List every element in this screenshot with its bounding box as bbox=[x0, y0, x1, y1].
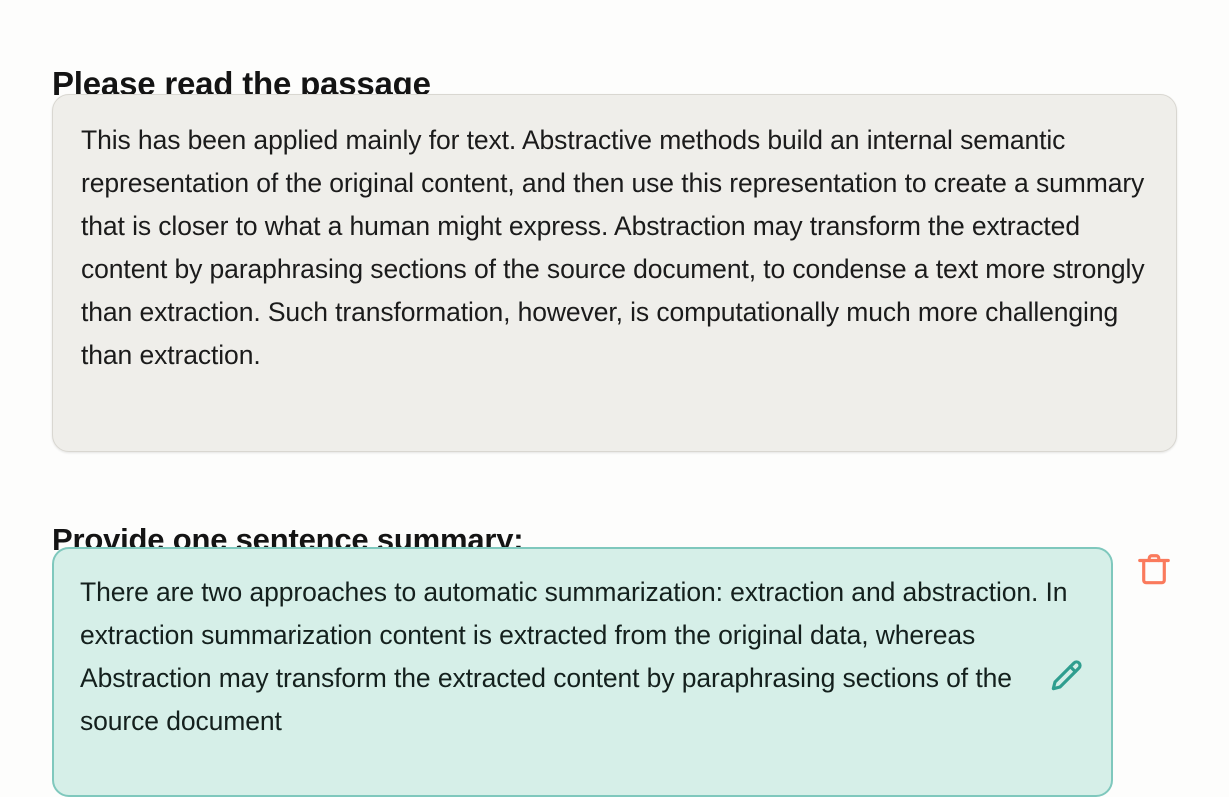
edit-button[interactable] bbox=[1046, 657, 1086, 697]
pencil-icon bbox=[1046, 657, 1086, 697]
summary-text: There are two approaches to automatic su… bbox=[80, 571, 1085, 743]
delete-button[interactable] bbox=[1135, 551, 1173, 589]
passage-card: This has been applied mainly for text. A… bbox=[52, 94, 1177, 452]
summary-input[interactable]: There are two approaches to automatic su… bbox=[52, 547, 1113, 797]
trash-icon bbox=[1135, 551, 1173, 589]
passage-text: This has been applied mainly for text. A… bbox=[81, 119, 1148, 377]
task-page: Please read the passage This has been ap… bbox=[0, 0, 1229, 756]
